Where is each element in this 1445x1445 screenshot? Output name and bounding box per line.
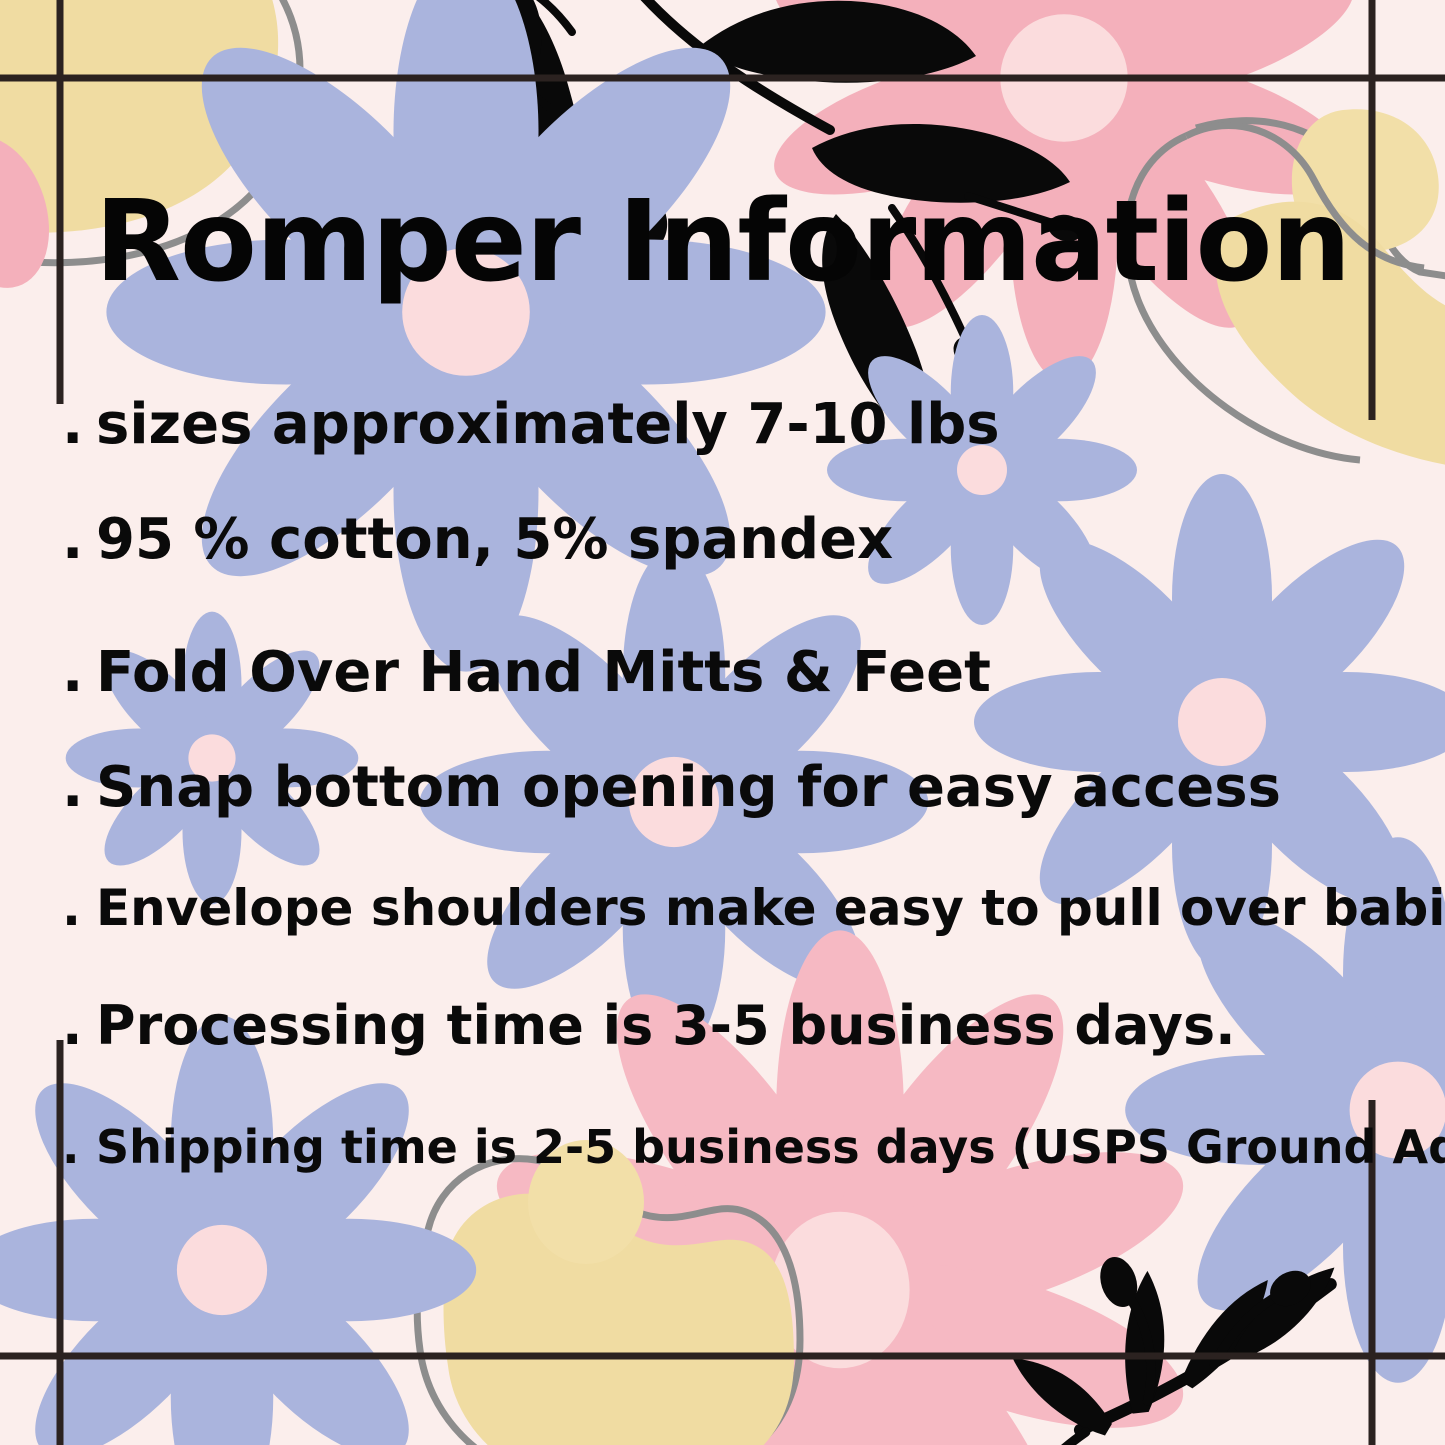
bullet-marker-icon: . — [62, 507, 96, 572]
list-item-label: Shipping time is 2-5 business days (USPS… — [96, 1120, 1445, 1174]
list-item-label: sizes approximately 7-10 lbs — [96, 392, 1000, 457]
bullet-marker-icon: . — [62, 392, 96, 457]
list-item: . 95 % cotton, 5% spandex — [62, 507, 893, 572]
poster-canvas: Romper Information . sizes approximately… — [0, 0, 1445, 1445]
bullet-marker-icon: . — [62, 1120, 96, 1174]
list-item: . Fold Over Hand Mitts & Feet — [62, 640, 991, 705]
list-item: . Processing time is 3-5 business days. — [62, 994, 1236, 1057]
bullet-marker-icon: . — [62, 994, 96, 1057]
list-item-label: Snap bottom opening for easy access — [96, 755, 1281, 820]
bullet-marker-icon: . — [62, 755, 96, 820]
list-item-label: Envelope shoulders make easy to pull ove… — [96, 879, 1445, 937]
bullet-marker-icon: . — [62, 640, 96, 705]
list-item-label: Processing time is 3-5 business days. — [96, 994, 1236, 1057]
list-item: . sizes approximately 7-10 lbs — [62, 392, 1000, 457]
list-item: . Envelope shoulders make easy to pull o… — [62, 879, 1445, 937]
list-item: . Shipping time is 2-5 business days (US… — [62, 1120, 1445, 1174]
list-item: . Snap bottom opening for easy access — [62, 755, 1281, 820]
poster-content: Romper Information . sizes approximately… — [0, 0, 1445, 1445]
bullet-marker-icon: . — [62, 879, 96, 937]
list-item-label: 95 % cotton, 5% spandex — [96, 507, 893, 572]
list-item-label: Fold Over Hand Mitts & Feet — [96, 640, 991, 705]
page-title: Romper Information — [0, 186, 1445, 298]
